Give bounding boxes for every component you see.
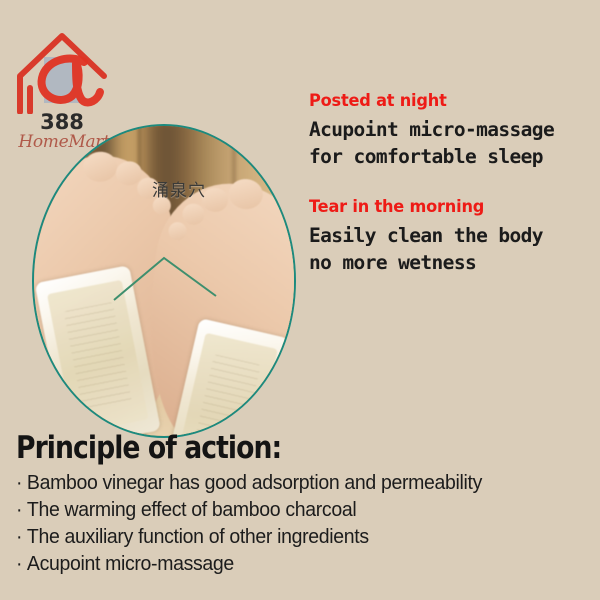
benefit-line: no more wetness: [309, 249, 595, 277]
acupoint-arrow-icon: [112, 252, 232, 304]
list-item-label: Acupoint micro-massage: [27, 552, 234, 575]
feet-photo-oval: 涌泉穴: [32, 124, 296, 438]
list-item: ·The auxiliary function of other ingredi…: [16, 523, 559, 550]
principle-section: Principle of action: ·Bamboo vinegar has…: [16, 432, 588, 578]
product-poster: 388 HomeMart: [0, 0, 600, 600]
bullet-icon: ·: [16, 471, 22, 494]
foot-patch: [163, 318, 290, 436]
list-item: ·The warming effect of bamboo charcoal: [16, 496, 559, 523]
bullet-icon: ·: [16, 498, 22, 521]
list-item: ·Bamboo vinegar has good adsorption and …: [16, 469, 559, 496]
benefit-block-night: Posted at night Acupoint micro-massage f…: [309, 92, 595, 171]
list-item-label: The auxiliary function of other ingredie…: [27, 525, 369, 548]
benefit-block-morning: Tear in the morning Easily clean the bod…: [309, 198, 595, 277]
bullet-icon: ·: [16, 552, 22, 575]
principle-title: Principle of action:: [16, 432, 508, 465]
benefit-line: Acupoint micro-massage: [309, 116, 595, 144]
list-item: ·Acupoint micro-massage: [16, 550, 559, 577]
benefit-kicker: Posted at night: [309, 92, 581, 111]
photo-content: 涌泉穴: [34, 126, 294, 436]
list-item-label: Bamboo vinegar has good adsorption and p…: [27, 471, 482, 494]
house-outline-logo-icon: [10, 26, 114, 114]
acupoint-label: 涌泉穴: [152, 176, 206, 201]
bullet-icon: ·: [16, 525, 22, 548]
benefit-line: for comfortable sleep: [309, 143, 595, 171]
principle-bullet-list: ·Bamboo vinegar has good adsorption and …: [16, 469, 588, 578]
benefit-line: Easily clean the body: [309, 222, 595, 250]
benefit-kicker: Tear in the morning: [309, 198, 581, 217]
benefits-column: Posted at night Acupoint micro-massage f…: [309, 92, 595, 277]
list-item-label: The warming effect of bamboo charcoal: [27, 498, 356, 521]
